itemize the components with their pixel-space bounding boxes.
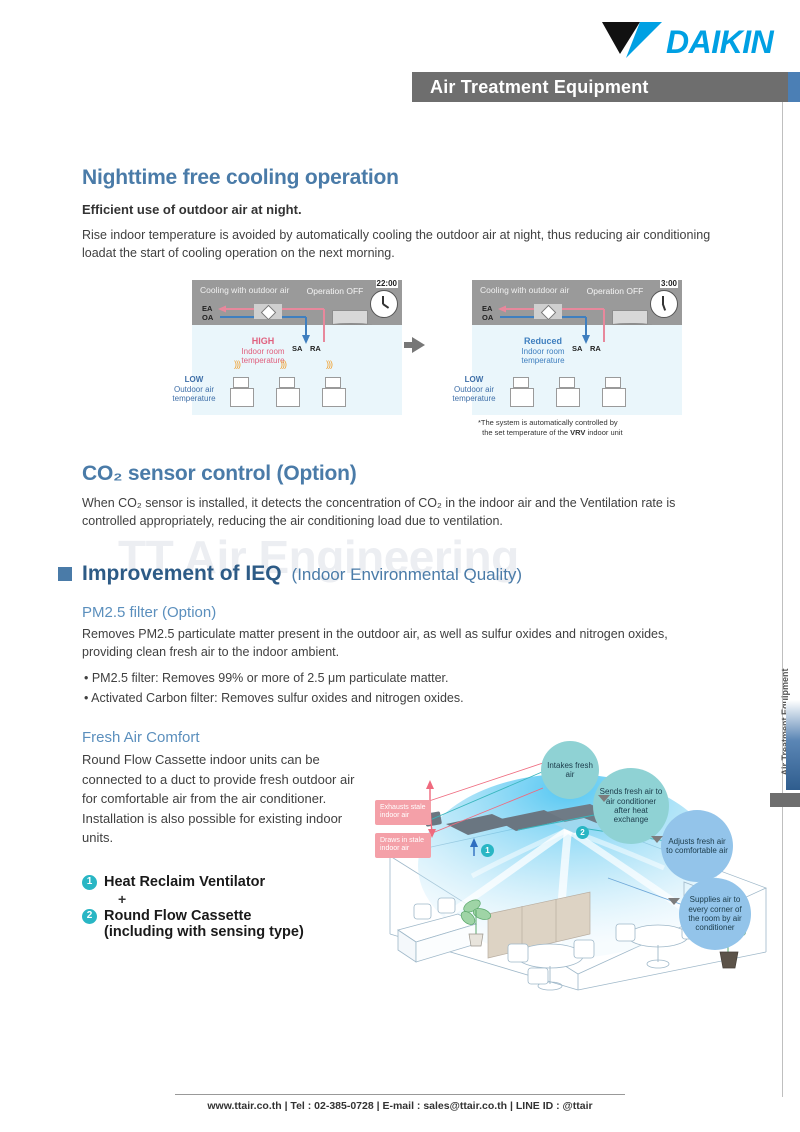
indoor-unit-icon xyxy=(602,377,624,407)
list-item: 2 Round Flow Cassette xyxy=(82,908,382,924)
diagram-night-22h: Cooling with outdoor air Operation OFF 2… xyxy=(192,280,402,415)
body-pm25: Removes PM2.5 particulate matter present… xyxy=(82,625,682,661)
diagram2-label-ea: EA xyxy=(482,304,492,313)
diagram-night-3h: Cooling with outdoor air Operation OFF 3… xyxy=(472,280,682,415)
diagram1-outdoor-temp-text: Outdoor air temperature xyxy=(164,385,224,404)
diagram1-label-ea: EA xyxy=(202,304,212,313)
diagram1-label-oa: OA xyxy=(202,313,213,322)
body-co2: When CO₂ sensor is installed, it detects… xyxy=(82,494,692,530)
banner-end-cap xyxy=(788,72,800,102)
document-page: DAIKIN Air Treatment Equipment Air Treat… xyxy=(0,0,800,1132)
callout-supplies-air: Supplies air to every corner of the room… xyxy=(679,878,751,950)
fresh-air-illustration: Exhausts stale indoor air Draws in stale… xyxy=(368,738,786,993)
list-item-sublabel: (including with sensing type) xyxy=(104,924,382,940)
footer-contact: www.ttair.co.th | Tel : 02-385-0728 | E-… xyxy=(0,1100,800,1112)
svg-text:DAIKIN: DAIKIN xyxy=(666,24,775,60)
indoor-unit-icon xyxy=(322,377,344,407)
list-item-label: Round Flow Cassette xyxy=(104,908,251,924)
diagram2-label-oa: OA xyxy=(482,313,493,322)
footnote-line2-pre: the set temperature of the xyxy=(482,428,570,437)
tag-exhaust-stale-air: Exhausts stale indoor air xyxy=(375,800,431,825)
category-banner-label: Air Treatment Equipment xyxy=(412,78,649,96)
diagram1-outdoor-temp: LOW Outdoor air temperature xyxy=(164,375,224,404)
side-tab-gradient xyxy=(786,700,800,790)
indoor-unit-icon xyxy=(556,377,578,407)
callout-pointer-icon xyxy=(668,898,680,905)
heat-wave-icon: ))) xyxy=(280,359,286,369)
diagram2-hrv xyxy=(534,304,562,319)
diagram1-hrv xyxy=(254,304,282,319)
body-night-cooling: Rise indoor temperature is avoided by au… xyxy=(82,226,722,262)
indoor-unit-icon xyxy=(510,377,532,407)
plus-sign: + xyxy=(118,891,382,907)
category-banner: Air Treatment Equipment xyxy=(412,72,788,102)
callout-intakes-fresh-air: Intakes fresh air xyxy=(541,741,599,799)
diagram-footnote: *The system is automatically controlled … xyxy=(478,418,693,438)
ieq-title-paren: (Indoor Environmental Quality) xyxy=(292,565,523,585)
tag-draw-stale-air: Draws in stale indoor air xyxy=(375,833,431,858)
callout-pointer-icon xyxy=(651,836,663,843)
section-title-night-cooling: Nighttime free cooling operation xyxy=(82,166,399,190)
diagram2-outdoor-temp: LOW Outdoor air temperature xyxy=(444,375,504,404)
list-item: • PM2.5 filter: Removes 99% or more of 2… xyxy=(82,668,682,688)
callout-adjusts-fresh-air: Adjusts fresh air to comfortable air xyxy=(661,810,733,882)
heat-wave-icon: ))) xyxy=(234,359,240,369)
number-badge-2: 2 xyxy=(82,909,97,924)
diagram1-room-temp-state: HIGH xyxy=(224,336,302,347)
diagram2-room-temp-text: Indoor room temperature xyxy=(504,347,582,366)
diagram2-room-temp-state: Reduced xyxy=(504,336,582,347)
body-fresh-air: Round Flow Cassette indoor units can be … xyxy=(82,750,357,848)
flow-arrow-icon xyxy=(412,337,425,353)
number-badge-1: 1 xyxy=(82,875,97,890)
illustration-marker-1: 1 xyxy=(481,844,494,857)
ieq-title-main: Improvement of IEQ xyxy=(82,562,282,586)
diagram1-outdoor-temp-state: LOW xyxy=(164,375,224,385)
subtitle-night-cooling: Efficient use of outdoor air at night. xyxy=(82,202,302,217)
section-title-ieq: Improvement of IEQ (Indoor Environmental… xyxy=(58,562,522,586)
list-item: 1 Heat Reclaim Ventilator xyxy=(82,874,382,890)
indoor-unit-icon xyxy=(276,377,298,407)
heat-wave-icon: ))) xyxy=(326,359,332,369)
indoor-unit-icon xyxy=(230,377,252,407)
illustration-marker-2: 2 xyxy=(576,826,589,839)
diagram1-label-ra: RA xyxy=(310,344,321,353)
footnote-line1: *The system is automatically controlled … xyxy=(478,418,618,427)
list-item: • Activated Carbon filter: Removes sulfu… xyxy=(82,688,682,708)
diagram2-outdoor-temp-text: Outdoor air temperature xyxy=(444,385,504,404)
subtitle-pm25: PM2.5 filter (Option) xyxy=(82,604,216,621)
subtitle-fresh-air: Fresh Air Comfort xyxy=(82,729,200,746)
diagram2-room-temp: Reduced Indoor room temperature xyxy=(504,336,582,366)
footnote-vrv: VRV xyxy=(570,428,585,437)
section-title-co2: CO₂ sensor control (Option) xyxy=(82,462,357,486)
callout-sends-fresh-air: Sends fresh air to air conditioner after… xyxy=(593,768,669,844)
footer-divider xyxy=(175,1094,625,1095)
daikin-logo: DAIKIN xyxy=(600,20,780,60)
pm25-bullet-list: • PM2.5 filter: Removes 99% or more of 2… xyxy=(82,668,682,708)
diagram2-outdoor-temp-state: LOW xyxy=(444,375,504,385)
diagram2-label-ra: RA xyxy=(590,344,601,353)
footnote-line2-post: indoor unit xyxy=(585,428,622,437)
fresh-air-component-list: 1 Heat Reclaim Ventilator + 2 Round Flow… xyxy=(82,874,382,940)
list-item-label: Heat Reclaim Ventilator xyxy=(104,874,265,890)
callout-pointer-icon xyxy=(598,795,610,802)
bullet-square-icon xyxy=(58,567,72,581)
